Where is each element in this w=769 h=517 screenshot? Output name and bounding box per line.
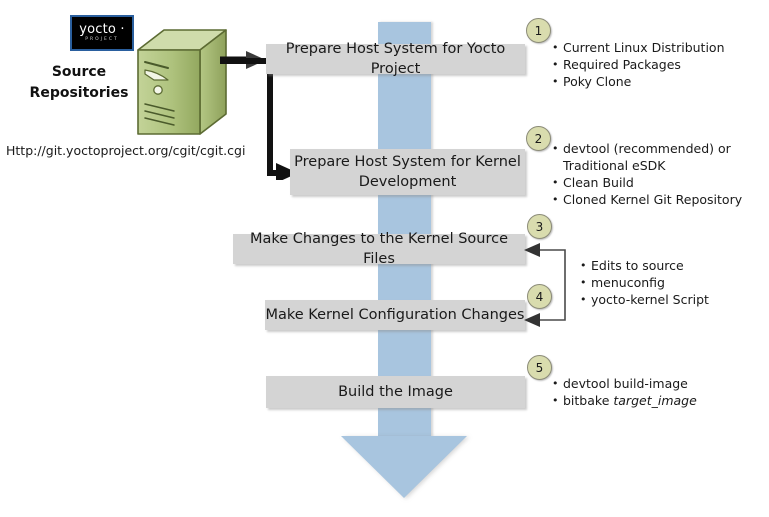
step-circle-1: 1 xyxy=(526,18,551,43)
list-item: Required Packages xyxy=(552,56,757,73)
list-item: Poky Clone xyxy=(552,73,757,90)
list-item: Current Linux Distribution xyxy=(552,39,757,56)
step-3-and-4-bullet-list: Edits to source menuconfig yocto-kernel … xyxy=(580,257,755,308)
step-circle-3: 3 xyxy=(527,214,552,239)
step-2-bullet-list: devtool (recommended) or Traditional eSD… xyxy=(552,140,757,208)
list-item: Cloned Kernel Git Repository xyxy=(552,191,757,208)
yocto-project-logo: yocto · PROJECT xyxy=(70,15,134,51)
process-box-step-2[interactable]: Prepare Host System for Kernel Developme… xyxy=(290,149,525,195)
process-box-step-5[interactable]: Build the Image xyxy=(266,376,525,408)
step-1-bullet-list: Current Linux Distribution Required Pack… xyxy=(552,39,757,90)
step-circle-4-number: 4 xyxy=(536,290,544,304)
source-repositories-url: Http://git.yoctoproject.org/cgit/cgit.cg… xyxy=(6,143,245,158)
step-circle-2: 2 xyxy=(526,126,551,151)
bitbake-command-prefix: bitbake xyxy=(563,393,613,408)
list-item: devtool build-image xyxy=(552,375,757,392)
process-box-step-4-label: Make Kernel Configuration Changes xyxy=(266,305,525,325)
list-item: Edits to source xyxy=(580,257,755,274)
source-repositories-label-line2: Repositories xyxy=(14,83,144,104)
bitbake-target-image-variable: target_image xyxy=(613,393,696,408)
process-box-step-3[interactable]: Make Changes to the Kernel Source Files xyxy=(233,234,525,264)
list-item: devtool (recommended) or Traditional eSD… xyxy=(552,140,757,174)
process-box-step-2-label: Prepare Host System for Kernel Developme… xyxy=(290,152,525,192)
step-5-bullet-list: devtool build-image bitbake target_image xyxy=(552,375,757,409)
step-circle-1-number: 1 xyxy=(535,24,543,38)
server-tower-icon xyxy=(134,28,230,140)
list-item: bitbake target_image xyxy=(552,392,757,409)
process-box-step-3-label: Make Changes to the Kernel Source Files xyxy=(233,229,525,269)
process-box-step-4[interactable]: Make Kernel Configuration Changes xyxy=(265,300,525,330)
step-circle-5: 5 xyxy=(527,355,552,380)
process-box-step-1-label: Prepare Host System for Yocto Project xyxy=(266,39,525,79)
yocto-logo-subtitle: PROJECT xyxy=(85,38,118,43)
step-circle-4: 4 xyxy=(527,284,552,309)
source-repositories-label-line1: Source xyxy=(14,62,144,83)
yocto-logo-wordmark: yocto · xyxy=(79,23,125,36)
step3-step4-bracket-connector xyxy=(520,240,580,330)
process-box-step-5-label: Build the Image xyxy=(338,382,453,402)
source-repositories-label: Source Repositories xyxy=(14,62,144,104)
list-item: menuconfig xyxy=(580,274,755,291)
step-circle-3-number: 3 xyxy=(536,220,544,234)
process-box-step-1[interactable]: Prepare Host System for Yocto Project xyxy=(266,44,525,74)
step-circle-2-number: 2 xyxy=(535,132,543,146)
list-item: yocto-kernel Script xyxy=(580,291,755,308)
step-circle-5-number: 5 xyxy=(536,361,544,375)
flow-arrow-head xyxy=(341,436,467,498)
list-item: Clean Build xyxy=(552,174,757,191)
